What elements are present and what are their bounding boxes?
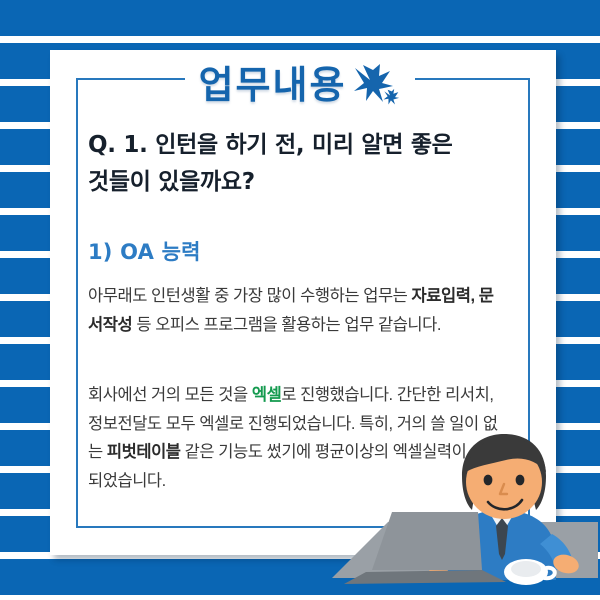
infographic-card-canvas: 업무내용 Q. 1. 인턴을 하기 전, 미리 알면 좋은 것들이 있을까요? …	[0, 0, 600, 600]
emphasis-green: 엑셀	[252, 386, 281, 404]
question-text: Q. 1. 인턴을 하기 전, 미리 알면 좋은 것들이 있을까요?	[88, 127, 508, 202]
text-run: 회사에선 거의 모든 것을	[88, 386, 252, 404]
text-run: 등 오피스 프로그램을 활용하는 업무 같습니다.	[132, 316, 441, 334]
question-line-1: Q. 1. 인턴을 하기 전, 미리 알면 좋은	[88, 127, 508, 164]
question-line-2: 것들이 있을까요?	[88, 164, 508, 201]
emphasis-bold: 피벗테이블	[107, 443, 181, 461]
section-subheading: 1) OA 능력	[88, 236, 201, 266]
paragraph-1: 아무래도 인턴생활 중 가장 많이 수행하는 업무는 자료입력, 문서작성 등 …	[88, 282, 508, 339]
text-run: 아무래도 인턴생활 중 가장 많이 수행하는 업무는	[88, 287, 412, 305]
paragraph-2: 회사에선 거의 모든 것을 엑셀로 진행했습니다. 간단한 리서치, 정보전달도…	[88, 381, 508, 496]
